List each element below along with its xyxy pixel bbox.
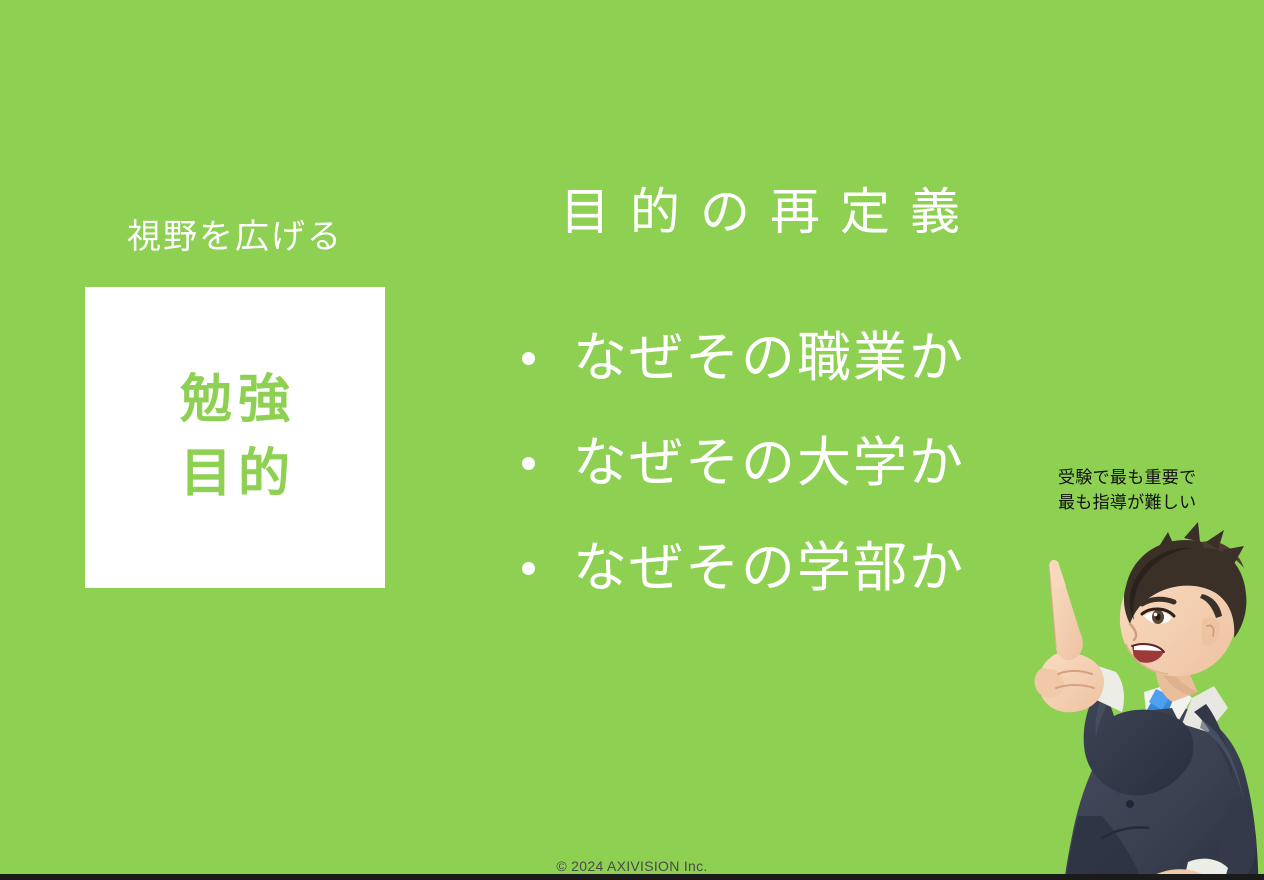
list-item: なぜその学部か xyxy=(508,516,1008,621)
slide-canvas: 視野を広げる 勉強 目的 目的の再定義 なぜその職業か なぜその大学か なぜその… xyxy=(0,0,1264,880)
footer-copyright: © 2024 AXIVISION Inc. xyxy=(0,858,1264,874)
side-note-line-1: 受験で最も重要で xyxy=(1058,466,1238,491)
side-note-line-2: 最も指導が難しい xyxy=(1058,491,1238,516)
study-purpose-card: 勉強 目的 xyxy=(85,287,385,588)
list-item: なぜその大学か xyxy=(508,411,1008,516)
eye-highlight xyxy=(1154,613,1158,617)
side-note: 受験で最も重要で 最も指導が難しい xyxy=(1058,466,1238,515)
card-line-2: 目的 xyxy=(174,438,296,512)
bullet-dot-icon xyxy=(522,457,535,470)
bullet-text: なぜその大学か xyxy=(573,435,965,492)
card-line-1: 勉強 xyxy=(174,364,296,438)
bullet-text: なぜその学部か xyxy=(573,540,965,597)
bullet-dot-icon xyxy=(522,352,535,365)
bullet-text: なぜその職業か xyxy=(573,330,965,387)
page-title: 目的の再定義 xyxy=(500,182,1020,242)
list-item: なぜその職業か xyxy=(508,306,1008,411)
bullet-dot-icon xyxy=(522,562,535,575)
suit-button xyxy=(1126,800,1134,808)
bottom-strip xyxy=(0,874,1264,880)
hair-spike-4 xyxy=(1158,532,1176,550)
pointing-businessman-illustration xyxy=(1006,516,1264,880)
hair-spike-1 xyxy=(1184,522,1200,542)
left-panel-label: 視野を広げる xyxy=(85,216,385,259)
bullet-list: なぜその職業か なぜその大学か なぜその学部か xyxy=(508,306,1008,621)
